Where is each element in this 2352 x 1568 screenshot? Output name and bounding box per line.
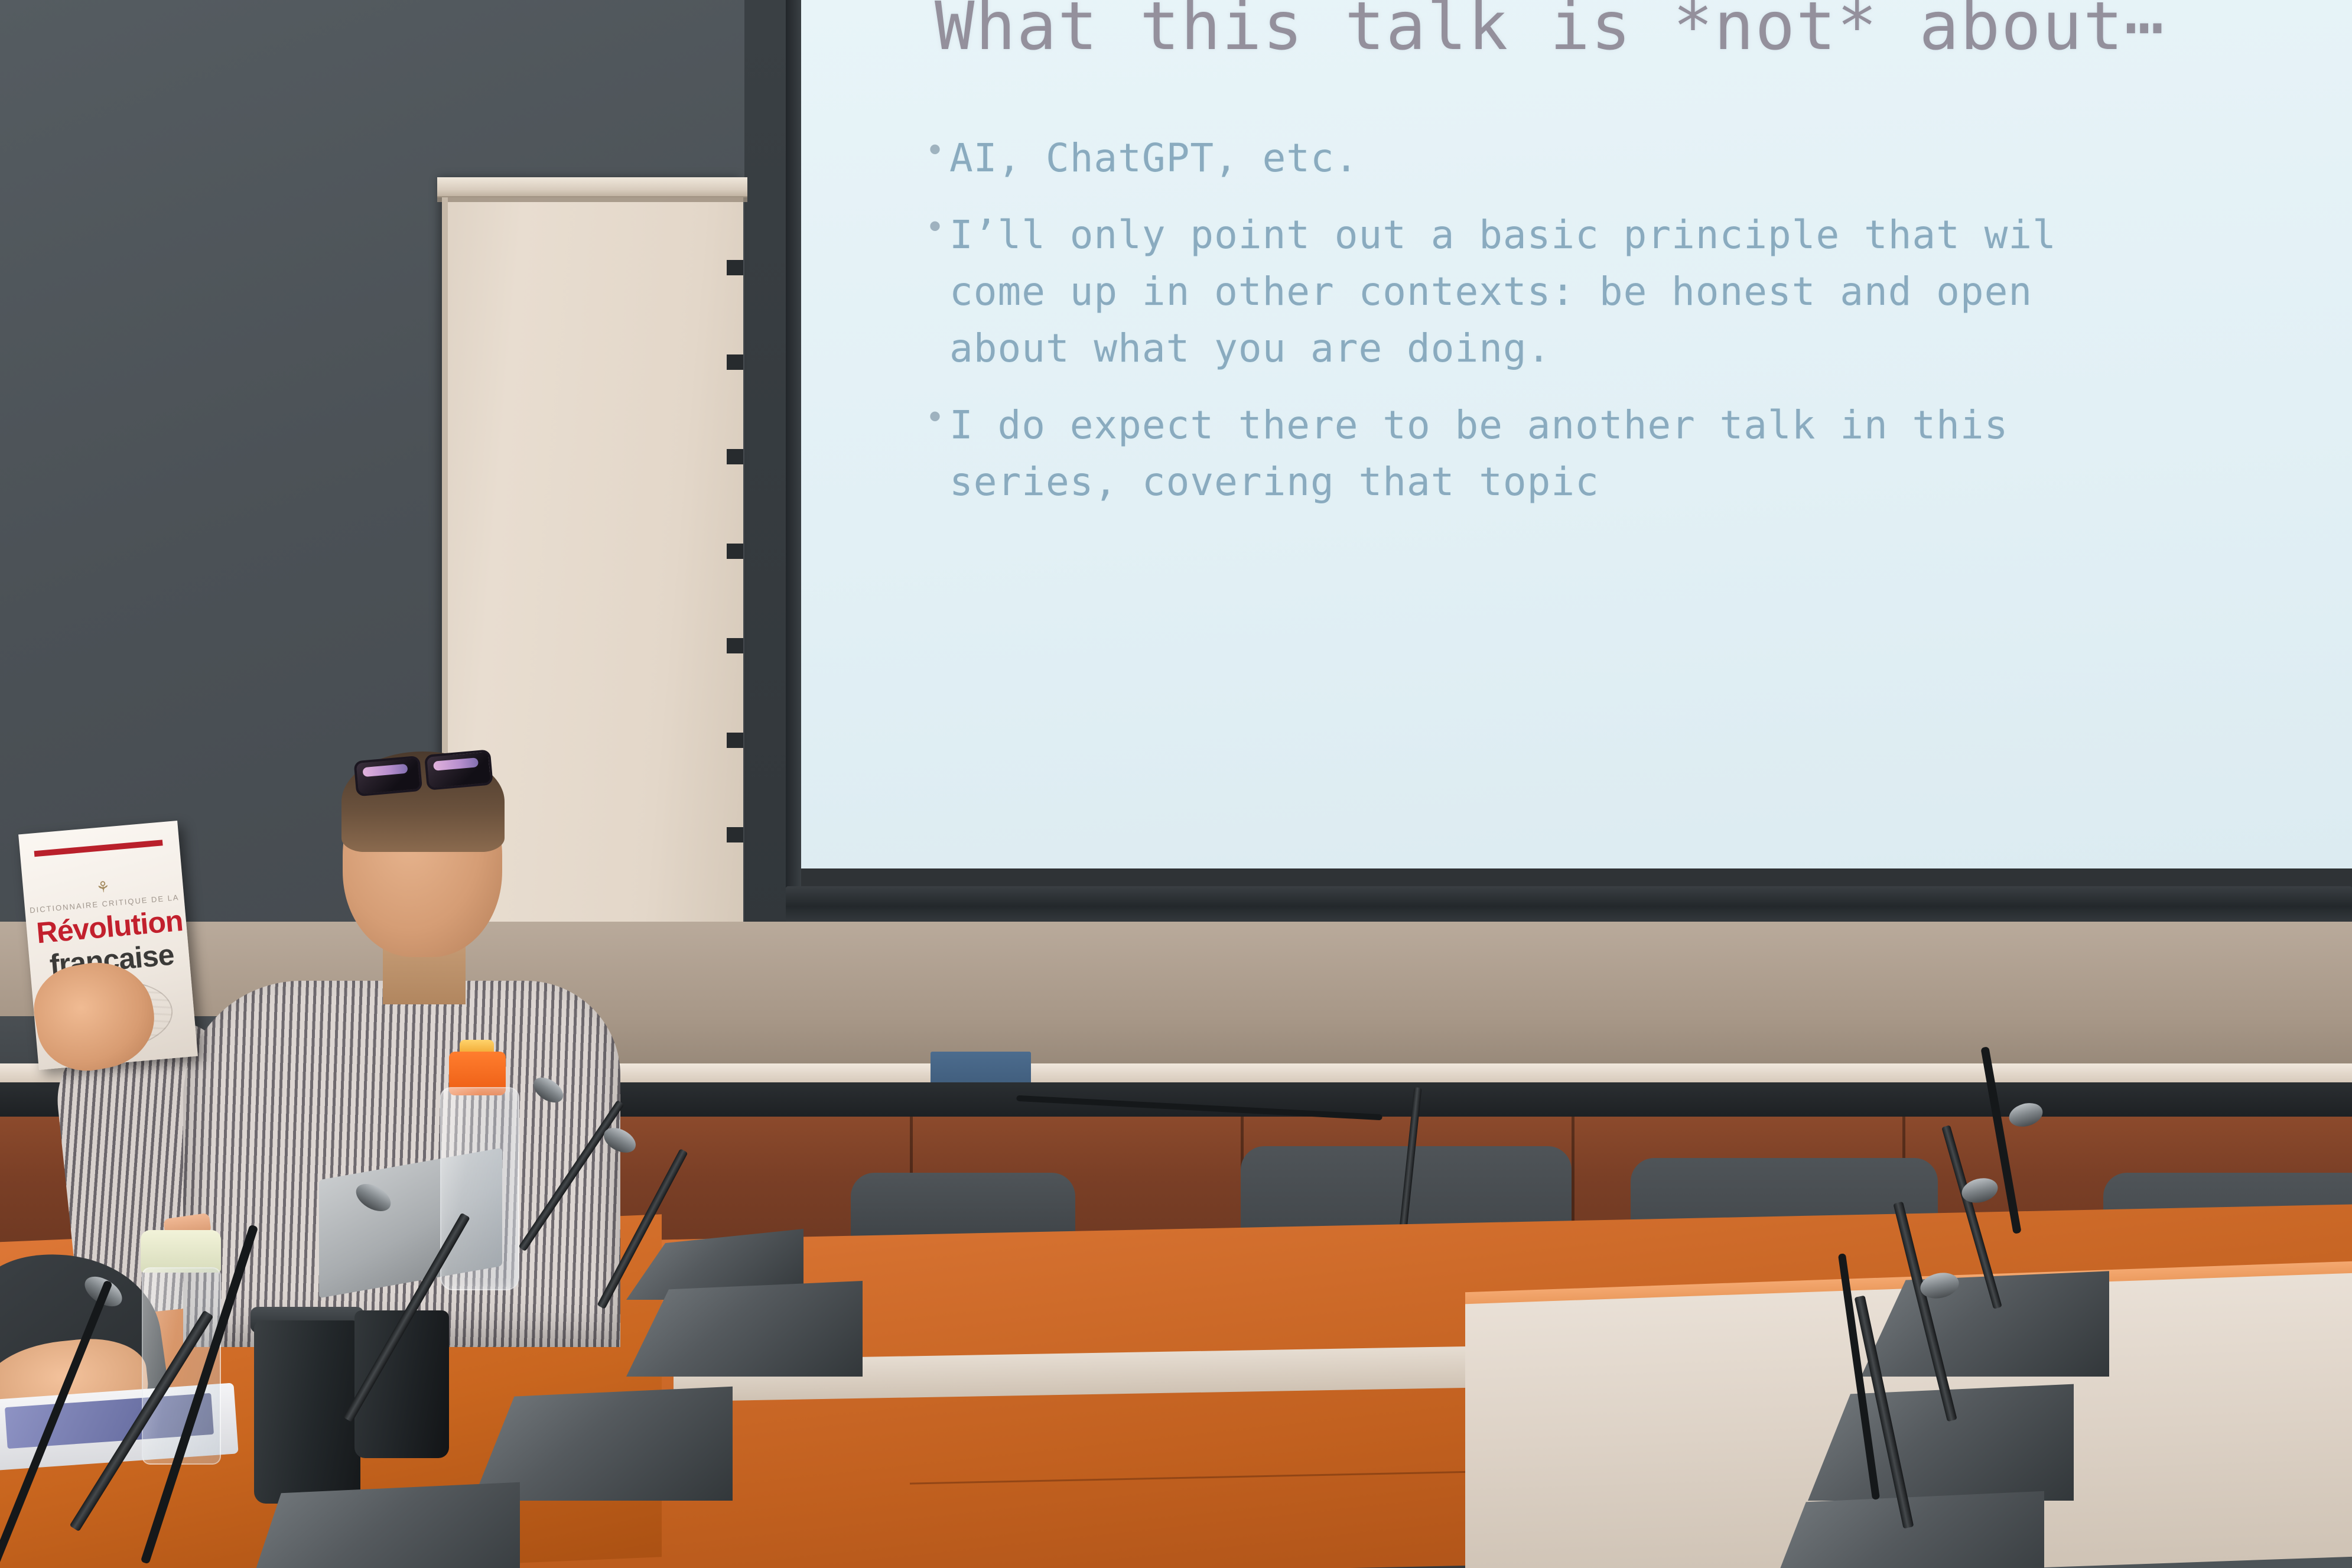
slide-bullet-item: • I’ll only point out a basic principle … xyxy=(929,207,2352,377)
travel-mug xyxy=(254,1320,360,1504)
slide-title: What this talk is *not* about⋯ xyxy=(935,0,2352,65)
slide-bullet-text: AI, ChatGPT, etc. xyxy=(949,130,1359,187)
bullet-marker-icon: • xyxy=(929,207,941,246)
projection-screen-bottom-bar xyxy=(786,886,2352,923)
book-accent-rule xyxy=(34,840,163,857)
board-notch xyxy=(727,638,743,653)
board-notch xyxy=(727,449,743,464)
bullet-marker-icon: • xyxy=(929,397,941,436)
whiteboard-top-rail xyxy=(437,177,747,197)
whiteboard-shadow xyxy=(437,196,747,202)
bullet-marker-icon: • xyxy=(929,130,941,169)
lens-sheen xyxy=(433,757,479,771)
board-notch xyxy=(727,260,743,275)
slide-bullet-text: I’ll only point out a basic principle th… xyxy=(949,207,2057,377)
bottle-cap-green xyxy=(141,1230,221,1273)
presenter-torso xyxy=(183,981,620,1347)
water-bottle-orange-cap xyxy=(440,1087,519,1290)
slide-bullet-item: • I do expect there to be another talk i… xyxy=(929,397,2352,510)
lens-sheen xyxy=(362,764,408,778)
slide-bullet-item: • AI, ChatGPT, etc. xyxy=(929,130,2352,187)
presentation-slide: What this talk is *not* about⋯ • AI, Cha… xyxy=(799,0,2352,868)
board-notch xyxy=(727,544,743,559)
lecture-photo-scene: What this talk is *not* about⋯ • AI, Cha… xyxy=(0,0,2352,1568)
slide-bullet-text: I do expect there to be another talk in … xyxy=(949,397,2008,510)
board-notch xyxy=(727,827,743,842)
sunglasses-lens-left xyxy=(353,756,422,797)
board-notch xyxy=(727,733,743,748)
slide-bullet-list: • AI, ChatGPT, etc. • I’ll only point ou… xyxy=(929,130,2352,531)
board-notch xyxy=(727,354,743,370)
sunglasses-lens-right xyxy=(424,749,493,790)
